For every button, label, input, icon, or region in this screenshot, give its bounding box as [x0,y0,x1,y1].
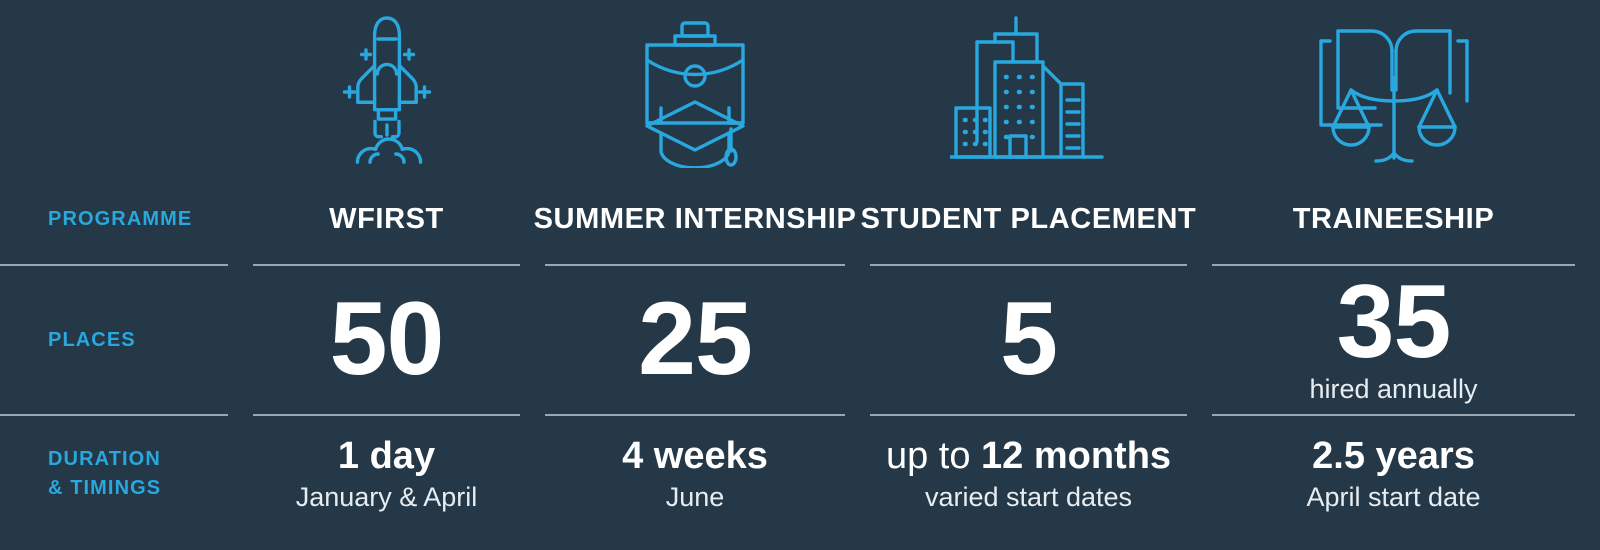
duration-subtext: April start date [1306,481,1480,513]
duration-prefix: up to [886,435,981,477]
duration-cell-student-placement: up to 12 months varied start dates [870,423,1187,525]
divider-wfirst [253,257,520,273]
row-label-programme: PROGRAMME [0,182,228,257]
places-number: 35 [1337,275,1451,371]
row-label-places: PLACES [0,273,228,407]
programme-title: STUDENT PLACEMENT [861,203,1197,236]
divider-student-placement [870,257,1187,273]
divider-wfirst [253,407,520,423]
gap [228,423,253,525]
gap [1575,407,1600,423]
divider-label-column [0,257,228,273]
duration-value: 4 weeks [622,435,768,477]
briefcase-graduation-cap-icon [627,16,763,168]
row-label-duration: DURATION & TIMINGS [0,423,228,525]
programme-title: WFIRST [329,203,444,236]
duration-main: 4 weeks [622,435,768,478]
gap [228,257,253,273]
gap [1187,182,1212,257]
gap [845,407,870,423]
icon-cell-wfirst [253,0,520,182]
gap [228,407,253,423]
programme-header-traineeship: TRAINEESHIP [1212,182,1575,257]
divider-summer-internship [545,257,845,273]
divider-summer-internship [545,407,845,423]
duration-main: 2.5 years [1312,435,1475,478]
gap [520,423,545,525]
duration-value: 2.5 years [1312,435,1475,477]
divider-student-placement [870,407,1187,423]
duration-cell-traineeship: 2.5 years April start date [1212,423,1575,525]
gap [1575,423,1600,525]
places-cell-wfirst: 50 [253,273,520,407]
gap [228,182,253,257]
duration-value: 1 day [338,435,435,477]
city-buildings-icon [950,12,1108,168]
places-number: 50 [330,292,444,388]
gap [228,0,253,182]
programme-header-wfirst: WFIRST [253,182,520,257]
gap [1575,257,1600,273]
icon-cell-summer-internship [545,0,845,182]
divider-label-column [0,407,228,423]
places-cell-traineeship: 35 hired annually [1212,273,1575,407]
icon-cell-student-placement [870,0,1187,182]
duration-main: 1 day [338,435,435,478]
programme-title: SUMMER INTERNSHIP [534,203,857,236]
gap [520,407,545,423]
gap [1187,257,1212,273]
gap [520,273,545,407]
gap [845,273,870,407]
places-cell-summer-internship: 25 [545,273,845,407]
places-subtext: hired annually [1309,373,1477,405]
rocket-icon [323,12,451,168]
gap [845,0,870,182]
programme-comparison-infographic: PROGRAMME WFIRST SUMMER INTERNSHIP STUDE… [0,0,1600,550]
programme-header-summer-internship: SUMMER INTERNSHIP [545,182,845,257]
gap [228,273,253,407]
gap [1187,423,1212,525]
duration-subtext: January & April [296,481,478,513]
gap [1187,273,1212,407]
duration-cell-wfirst: 1 day January & April [253,423,520,525]
divider-traineeship [1212,407,1575,423]
duration-subtext: June [666,481,725,513]
gap [1187,0,1212,182]
gap [1575,182,1600,257]
gap [1187,407,1212,423]
programme-title: TRAINEESHIP [1293,203,1495,236]
gap [520,0,545,182]
duration-main: up to 12 months [886,435,1171,478]
gap [1575,0,1600,182]
book-scales-icon [1303,18,1485,168]
places-number: 5 [1000,292,1057,388]
comparison-grid: PROGRAMME WFIRST SUMMER INTERNSHIP STUDE… [0,0,1600,550]
places-cell-student-placement: 5 [870,273,1187,407]
gap [845,257,870,273]
duration-value: 12 months [981,435,1171,477]
places-number: 25 [638,292,752,388]
gap [845,423,870,525]
gap [1575,273,1600,407]
gap [520,257,545,273]
icon-cell-traineeship [1212,0,1575,182]
duration-subtext: varied start dates [925,481,1132,513]
programme-header-student-placement: STUDENT PLACEMENT [870,182,1187,257]
duration-cell-summer-internship: 4 weeks June [545,423,845,525]
icon-row-spacer [0,0,228,182]
